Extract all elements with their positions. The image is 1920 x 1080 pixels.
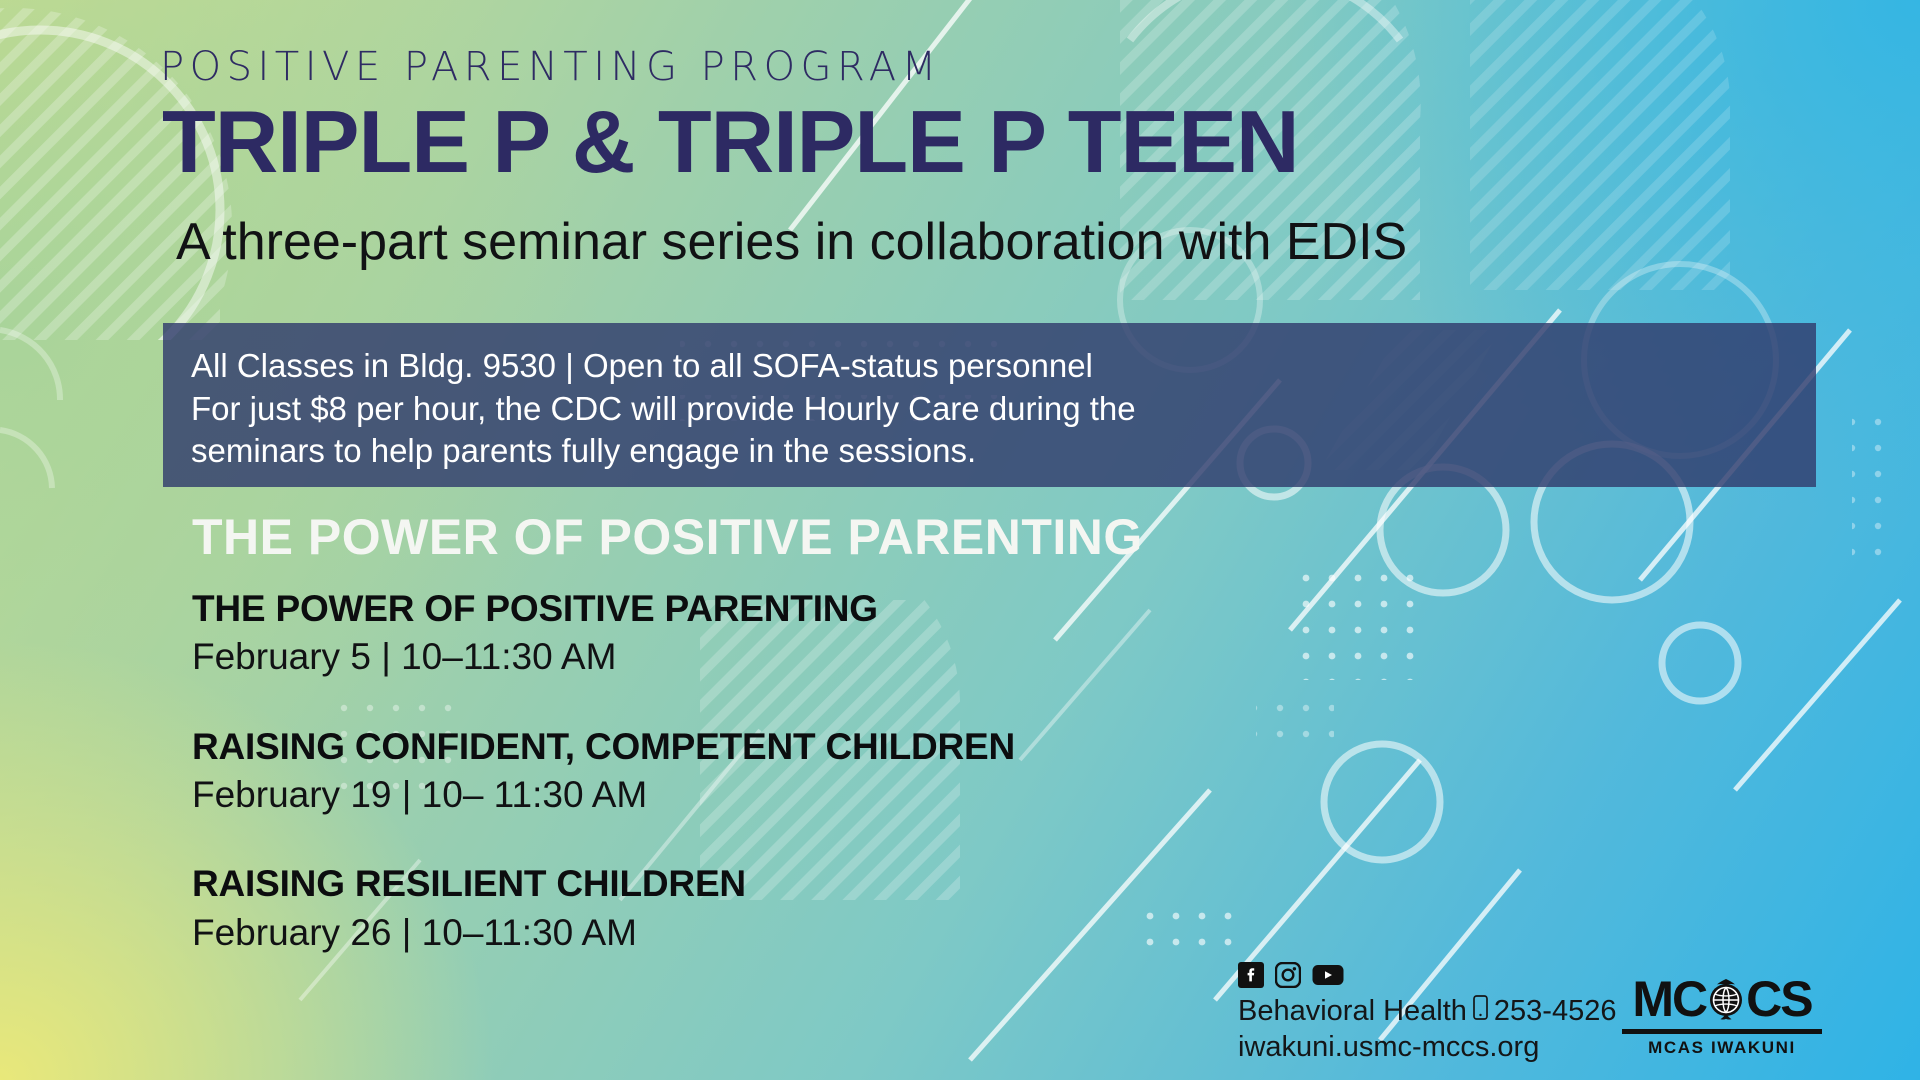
contact-phone-line: Behavioral Health 253-4526 bbox=[1238, 994, 1616, 1028]
eagle-globe-anchor-icon bbox=[1703, 976, 1749, 1022]
info-box: All Classes in Bldg. 9530 | Open to all … bbox=[163, 323, 1816, 487]
session-title: RAISING CONFIDENT, COMPETENT CHILDREN bbox=[192, 726, 1392, 767]
instagram-icon[interactable] bbox=[1275, 962, 1301, 988]
mccs-wordmark-left: MC bbox=[1632, 974, 1706, 1024]
poster-headline: TRIPLE P & TRIPLE P TEEN bbox=[162, 98, 1299, 186]
session-item: THE POWER OF POSITIVE PARENTING February… bbox=[192, 588, 1392, 682]
session-date: February 26 | 10–11:30 AM bbox=[192, 909, 1392, 957]
info-line-1: All Classes in Bldg. 9530 | Open to all … bbox=[191, 345, 1788, 388]
logo-divider bbox=[1622, 1029, 1822, 1034]
social-links bbox=[1238, 962, 1616, 988]
youtube-icon[interactable] bbox=[1312, 962, 1344, 988]
mobile-phone-icon bbox=[1473, 994, 1488, 1028]
session-item: RAISING RESILIENT CHILDREN February 26 |… bbox=[192, 863, 1392, 957]
mccs-wordmark: MC CS bbox=[1622, 972, 1822, 1026]
website-url[interactable]: iwakuni.usmc-mccs.org bbox=[1238, 1030, 1616, 1064]
session-date: February 19 | 10– 11:30 AM bbox=[192, 771, 1392, 819]
poster-subheadline: A three-part seminar series in collabora… bbox=[176, 216, 1407, 268]
phone-number[interactable]: 253-4526 bbox=[1494, 994, 1617, 1028]
contact-block: Behavioral Health 253-4526 iwakuni.usmc-… bbox=[1238, 962, 1616, 1064]
facebook-icon[interactable] bbox=[1238, 962, 1264, 988]
installation-label: MCAS IWAKUNI bbox=[1622, 1038, 1822, 1058]
info-line-2: For just $8 per hour, the CDC will provi… bbox=[191, 388, 1788, 431]
session-item: RAISING CONFIDENT, COMPETENT CHILDREN Fe… bbox=[192, 726, 1392, 820]
info-line-3: seminars to help parents fully engage in… bbox=[191, 430, 1788, 473]
session-date: February 5 | 10–11:30 AM bbox=[192, 633, 1392, 681]
program-eyebrow: POSITIVE PARENTING PROGRAM bbox=[160, 44, 942, 90]
series-section-title: THE POWER OF POSITIVE PARENTING bbox=[192, 508, 1143, 566]
session-list: THE POWER OF POSITIVE PARENTING February… bbox=[192, 588, 1392, 1001]
mccs-wordmark-right: CS bbox=[1746, 974, 1811, 1024]
poster-content: POSITIVE PARENTING PROGRAM TRIPLE P & TR… bbox=[0, 0, 1920, 1080]
department-label: Behavioral Health bbox=[1238, 994, 1467, 1028]
mccs-logo: MC CS MCAS IWAKUNI bbox=[1622, 972, 1822, 1058]
session-title: THE POWER OF POSITIVE PARENTING bbox=[192, 588, 1392, 629]
session-title: RAISING RESILIENT CHILDREN bbox=[192, 863, 1392, 904]
